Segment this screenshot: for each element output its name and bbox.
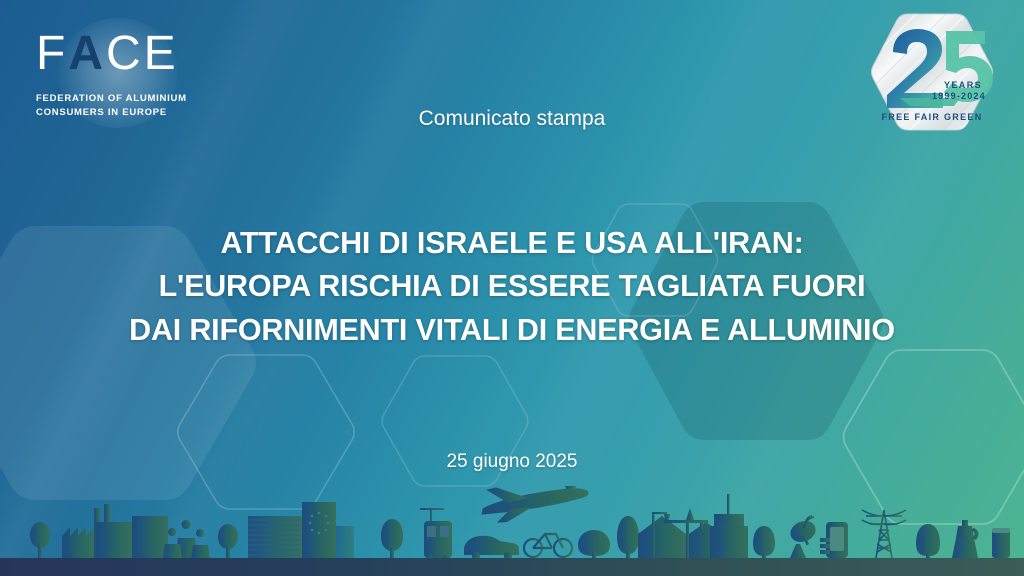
badge-years-label: YEARS xyxy=(944,80,982,90)
page-title: ATTACCHI DI ISRAELE E USA ALL'IRAN: L'EU… xyxy=(0,222,1024,352)
kicker-label: Comunicato stampa xyxy=(0,107,1024,131)
page-title-line-2: L'EUROPA RISCHIA DI ESSERE TAGLIATA FUOR… xyxy=(0,265,1024,308)
badge-years-range: 1999-2024 xyxy=(932,91,986,101)
face-wordmark: FACE xyxy=(36,30,216,78)
face-wordmark-f: F xyxy=(36,27,68,80)
page-title-line-1: ATTACCHI DI ISRAELE E USA ALL'IRAN: xyxy=(0,222,1024,265)
face-tagline-line1: FEDERATION OF ALUMINIUM xyxy=(36,92,216,106)
press-release-slide: FACE FEDERATION OF ALUMINIUM CONSUMERS I… xyxy=(0,0,1024,576)
skyline-illustration xyxy=(0,486,1024,576)
publication-date: 25 giugno 2025 xyxy=(0,451,1024,473)
face-wordmark-a: A xyxy=(68,27,106,80)
face-wordmark-ce: CE xyxy=(106,27,179,80)
page-title-line-3: DAI RIFORNIMENTI VITALI DI ENERGIA E ALL… xyxy=(0,309,1024,352)
